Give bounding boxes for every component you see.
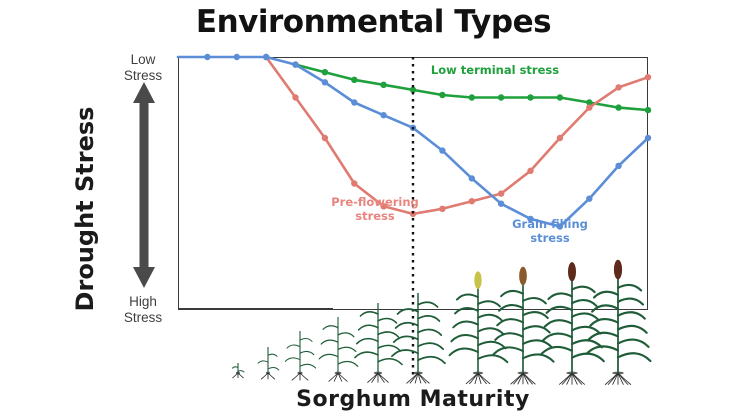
plant-leaf [450,348,478,355]
plant-leaf [478,301,500,306]
plant-leaf [572,354,604,362]
data-point [263,54,269,60]
plant-leaf [572,327,600,334]
plant-root [618,373,631,385]
data-point [586,196,592,202]
plant-leaf [493,347,523,354]
plant-leaf [588,333,618,340]
data-point [498,190,504,196]
data-point [527,168,533,174]
plant-leaf [618,340,649,347]
plant-leaf [547,307,572,313]
plant-leaf [543,334,572,341]
plant-seed-head [568,262,576,281]
plant-leaf [233,367,238,368]
plant-leaf [451,335,478,341]
plant-leaf [378,345,400,350]
plant-leaf [319,354,338,358]
sorghum-plant [319,317,358,382]
data-point [439,206,445,212]
chart-figure: Environmental Types Drought Stress Low S… [0,0,747,420]
plant-leaf [572,300,596,306]
plant-leaf [360,312,378,316]
plant-root [572,373,585,385]
data-point [498,94,504,100]
plant-leaf [495,333,523,340]
plant-leaf [378,332,398,337]
plant-root [329,373,338,382]
plant-leaf [453,321,478,327]
annotation-grain-filling-stress: Grain filling stress [495,217,605,245]
plant-leaf [418,330,441,336]
data-point [615,84,621,90]
plant-leaf [323,326,338,330]
plant-root [338,373,347,382]
plant-leaf [418,357,445,363]
data-point [380,112,386,118]
plant-leaf [268,367,279,370]
sorghum-plant [587,260,651,385]
plant-leaf [572,287,595,292]
data-point [322,135,328,141]
plant-leaf [478,328,504,334]
plant-leaf [523,340,552,347]
plant-seed-head [519,267,527,285]
plant-leaf [478,315,502,321]
plant-leaf [618,285,641,291]
plant-leaf [455,308,478,313]
sorghum-plant [285,331,315,380]
plant-leaf [572,313,598,319]
sorghum-growth-stages [232,260,650,385]
plant-leaf [545,320,572,327]
data-point [469,198,475,204]
plant-leaf [321,340,338,344]
plant-leaf [478,342,506,349]
plant-leaf [523,312,548,318]
plant-leaf [418,316,439,321]
data-point [439,92,445,98]
plant-leaf [285,358,300,362]
data-point [351,77,357,83]
plant-leaf [594,292,618,298]
annotation-grain-filling-line1: Grain filling [495,217,605,231]
data-point [204,54,210,60]
sorghum-plant [232,363,244,378]
sorghum-plant [450,271,508,384]
annotation-pre-flowering-line2: stress [315,209,435,223]
data-point [645,135,651,141]
plant-leaf [618,326,647,333]
data-point [322,79,328,85]
annotation-pre-flowering-stress: Pre-flowering stress [315,195,435,223]
plant-leaf [457,294,478,299]
plant-leaf [357,339,378,344]
data-point [292,94,298,100]
data-point [469,94,475,100]
sorghum-plant [355,303,402,383]
data-point [292,61,298,67]
data-point [615,104,621,110]
plant-leaf [378,359,402,365]
data-point [322,69,328,75]
plant-leaf [378,319,396,323]
plant-root [523,373,535,384]
plant-leaf [338,347,356,351]
data-point [498,201,504,207]
plant-seed-head [614,260,622,280]
plant-leaf [618,353,650,361]
plant-leaf [618,299,643,305]
data-point [469,175,475,181]
plant-leaf [338,362,358,367]
annotation-low-terminal-stress: Low terminal stress [410,63,580,77]
annotation-pre-flowering-line1: Pre-flowering [315,195,435,209]
plant-leaf [499,305,523,311]
data-point [586,104,592,110]
plant-leaf [338,333,354,337]
plant-leaf [300,351,314,354]
data-point [557,135,563,141]
plant-leaf [398,309,418,314]
data-point [380,82,386,88]
plant-leaf [258,361,268,363]
plant-leaf [355,352,378,358]
data-point [351,99,357,105]
plant-leaf [418,343,443,349]
plant-leaf [268,354,277,356]
plant-leaf [548,293,572,299]
data-point [557,94,563,100]
data-point [234,54,240,60]
plant-leaf [590,319,618,326]
plant-leaf [523,354,554,361]
data-point [645,74,651,80]
plant-leaf [396,323,418,328]
plant-leaf [394,336,418,342]
x-axis-title: Sorghum Maturity [178,387,648,412]
plant-leaf [618,312,645,318]
plant-leaf [287,345,300,348]
data-point [615,163,621,169]
data-point [645,107,651,113]
plant-leaf [359,325,378,330]
plant-leaf [300,339,312,342]
annotation-grain-filling-line2: stress [495,231,605,245]
plant-leaf [418,302,438,307]
plant-leaf [300,364,316,368]
plant-seed-head [474,271,481,289]
plant-leaf [523,298,546,303]
sorghum-plant [392,293,445,383]
plant-leaf [478,355,507,362]
data-point [351,180,357,186]
sorghum-plant [258,347,279,379]
plant-leaf [501,291,523,296]
data-point [439,147,445,153]
series-pre-flowering-stress [263,54,651,217]
data-point [527,94,533,100]
plant-leaf [541,347,572,354]
